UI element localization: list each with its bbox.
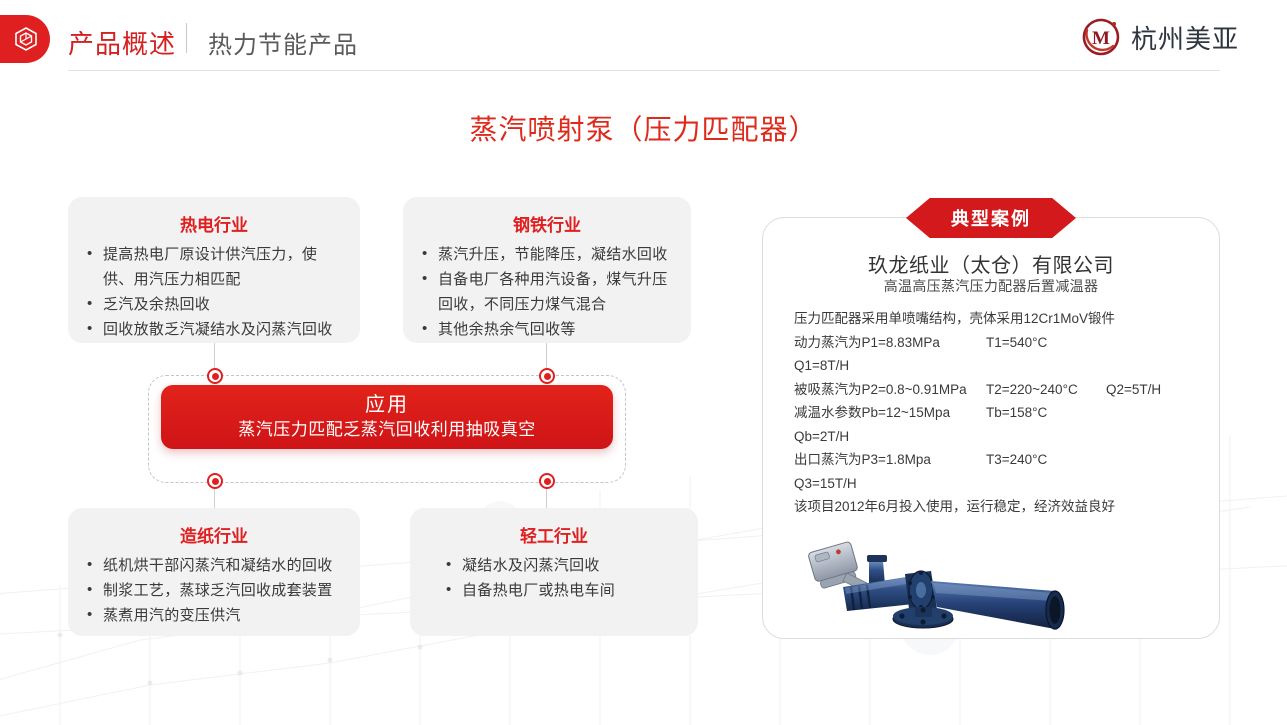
slide-root: 产品概述 热力节能产品 M 杭州美亚 蒸汽喷射泵（压力匹配器） 热电行业	[0, 0, 1287, 725]
spec-row: 减温水参数Pb=12~15Mpa Tb=158°C	[794, 401, 1194, 425]
svg-text:M: M	[1092, 28, 1110, 49]
case-study-ribbon: 典型案例	[906, 198, 1076, 238]
industry-box-heading: 轻工行业	[424, 522, 684, 547]
case-study-subtitle: 高温高压蒸汽压力配器后置减温器	[762, 276, 1220, 296]
spec-cell-b: T3=240°C	[986, 448, 1106, 472]
spec-row: 压力匹配器采用单喷嘴结构，壳体采用12Cr1MoV锻件	[794, 307, 1194, 331]
industry-box-heading: 热电行业	[82, 211, 346, 236]
spec-cell-b: T2=220~240°C	[986, 378, 1106, 402]
list-item: 纸机烘干部闪蒸汽和凝结水的回收	[82, 553, 346, 578]
spec-cell-b: T1=540°C	[986, 331, 1106, 355]
list-item: 乏汽及余热回收	[82, 292, 346, 317]
spec-cell-b	[986, 354, 1106, 378]
industry-box-thermal-power[interactable]: 热电行业 提高热电厂原设计供汽压力，使供、用汽压力相匹配 乏汽及余热回收 回收放…	[68, 197, 360, 343]
list-item: 蒸煮用汽的变压供汽	[82, 603, 346, 628]
spec-cell-a: 压力匹配器采用单喷嘴结构，壳体采用12Cr1MoV锻件	[794, 307, 1094, 331]
industry-box-heading: 造纸行业	[82, 522, 346, 547]
spec-cell-a: Q1=8T/H	[794, 354, 986, 378]
spec-cell-b	[986, 425, 1106, 449]
industry-box-papermaking[interactable]: 造纸行业 纸机烘干部闪蒸汽和凝结水的回收 制浆工艺，蒸球乏汽回收成套装置 蒸煮用…	[68, 508, 360, 636]
spec-cell-a: Qb=2T/H	[794, 425, 986, 449]
case-study-spec-list: 压力匹配器采用单喷嘴结构，壳体采用12Cr1MoV锻件 动力蒸汽为P1=8.83…	[794, 307, 1194, 519]
application-center-box[interactable]: 应用 蒸汽压力匹配乏蒸汽回收利用抽吸真空	[161, 385, 613, 449]
brand-lockup: M 杭州美亚	[1080, 16, 1239, 58]
application-title: 应用	[365, 392, 409, 418]
connector-dot-bottom-left	[207, 473, 223, 489]
spec-cell-a: 减温水参数Pb=12~15Mpa	[794, 401, 986, 425]
spec-row: Q1=8T/H	[794, 354, 1194, 378]
industry-box-light-industry[interactable]: 轻工行业 凝结水及闪蒸汽回收 自备热电厂或热电车间	[410, 508, 698, 636]
product-photo	[797, 527, 1087, 637]
brand-name: 杭州美亚	[1131, 19, 1239, 56]
industry-box-list: 蒸汽升压，节能降压，凝结水回收 自备电厂各种用汽设备，煤气升压回收，不同压力煤气…	[417, 242, 677, 342]
list-item: 自备热电厂或热电车间	[424, 578, 684, 603]
case-study-ribbon-label: 典型案例	[951, 205, 1031, 231]
connector-dot-top-left	[207, 368, 223, 384]
industry-box-steel[interactable]: 钢铁行业 蒸汽升压，节能降压，凝结水回收 自备电厂各种用汽设备，煤气升压回收，不…	[403, 197, 691, 343]
spec-cell-a: 动力蒸汽为P1=8.83MPa	[794, 331, 986, 355]
industry-box-heading: 钢铁行业	[417, 211, 677, 236]
spec-cell-a: 出口蒸汽为P3=1.8Mpa	[794, 448, 986, 472]
spec-cell-a: Q3=15T/H	[794, 472, 986, 496]
industry-box-list: 凝结水及闪蒸汽回收 自备热电厂或热电车间	[424, 553, 684, 603]
list-item: 制浆工艺，蒸球乏汽回收成套装置	[82, 578, 346, 603]
case-study-title: 玖龙纸业（太仓）有限公司	[762, 249, 1220, 278]
connector-dot-bottom-right	[539, 473, 555, 489]
meiya-m-logo-icon: M	[1080, 16, 1122, 58]
spec-cell-a: 被吸蒸汽为P2=0.8~0.91MPa	[794, 378, 986, 402]
spec-row: Qb=2T/H	[794, 425, 1194, 449]
list-item: 蒸汽升压，节能降压，凝结水回收	[417, 242, 677, 267]
list-item: 自备电厂各种用汽设备，煤气升压回收，不同压力煤气混合	[417, 267, 677, 317]
industry-box-list: 纸机烘干部闪蒸汽和凝结水的回收 制浆工艺，蒸球乏汽回收成套装置 蒸煮用汽的变压供…	[82, 553, 346, 628]
connector-dot-top-right	[539, 368, 555, 384]
industry-box-list: 提高热电厂原设计供汽压力，使供、用汽压力相匹配 乏汽及余热回收 回收放散乏汽凝结…	[82, 242, 346, 342]
spec-row: 动力蒸汽为P1=8.83MPa T1=540°C	[794, 331, 1194, 355]
list-item: 提高热电厂原设计供汽压力，使供、用汽压力相匹配	[82, 242, 346, 292]
application-diagram: 热电行业 提高热电厂原设计供汽压力，使供、用汽压力相匹配 乏汽及余热回收 回收放…	[0, 0, 740, 725]
list-item: 其他余热余气回收等	[417, 317, 677, 342]
application-subtitle: 蒸汽压力匹配乏蒸汽回收利用抽吸真空	[238, 418, 536, 442]
spec-row: Q3=15T/H	[794, 472, 1194, 496]
spec-row: 被吸蒸汽为P2=0.8~0.91MPa T2=220~240°C Q2=5T/H	[794, 378, 1194, 402]
spec-cell-b	[986, 472, 1106, 496]
spec-cell-c: Q2=5T/H	[1106, 378, 1161, 402]
list-item: 凝结水及闪蒸汽回收	[424, 553, 684, 578]
spec-cell-a: 该项目2012年6月投入使用，运行稳定，经济效益良好	[794, 495, 1134, 519]
steam-ejector-pump-photo	[797, 527, 1087, 637]
spec-row: 出口蒸汽为P3=1.8Mpa T3=240°C	[794, 448, 1194, 472]
list-item: 回收放散乏汽凝结水及闪蒸汽回收	[82, 317, 346, 342]
spec-cell-b: Tb=158°C	[986, 401, 1106, 425]
spec-row: 该项目2012年6月投入使用，运行稳定，经济效益良好	[794, 495, 1194, 519]
